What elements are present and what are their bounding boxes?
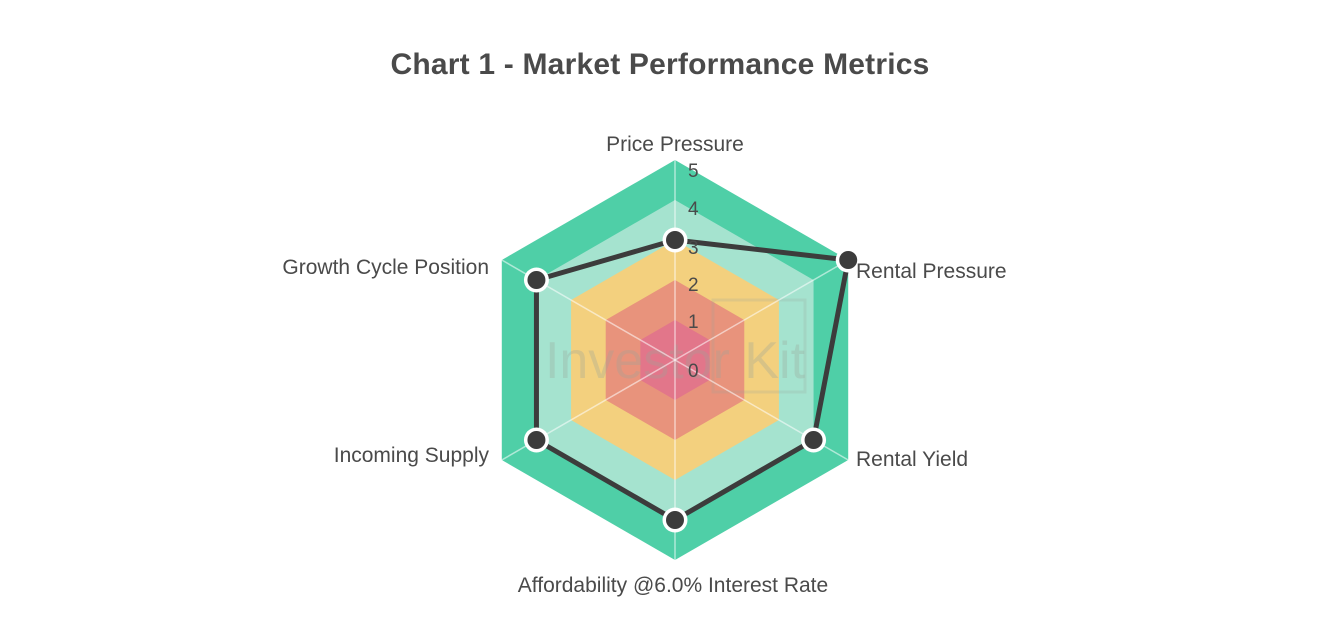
axis-label-affordability: Affordability @6.0% Interest Rate [518,574,828,597]
tick-label-0: 0 [688,361,699,382]
axis-label-growth-cycle-position: Growth Cycle Position [282,256,489,279]
data-point-marker[interactable] [805,431,823,449]
axis-label-rental-pressure: Rental Pressure [856,260,1007,283]
data-point-marker[interactable] [527,431,545,449]
tick-label-4: 4 [688,199,699,220]
tick-label-3: 3 [688,238,699,259]
axis-label-incoming-supply: Incoming Supply [334,444,490,467]
data-point-marker[interactable] [666,511,684,529]
axis-label-price-pressure: Price Pressure [606,133,744,156]
tick-label-2: 2 [688,275,699,296]
data-point-marker[interactable] [527,271,545,289]
radar-chart-container: Chart 1 - Market Performance Metrics Inv… [0,0,1320,640]
tick-label-5: 5 [688,161,699,182]
data-point-marker[interactable] [666,231,684,249]
radar-chart-svg: Investor Kit 0 1 2 3 4 5 Price Pressure … [0,0,1320,640]
data-point-marker[interactable] [839,251,857,269]
axis-label-rental-yield: Rental Yield [856,448,968,471]
tick-label-1: 1 [688,312,699,333]
